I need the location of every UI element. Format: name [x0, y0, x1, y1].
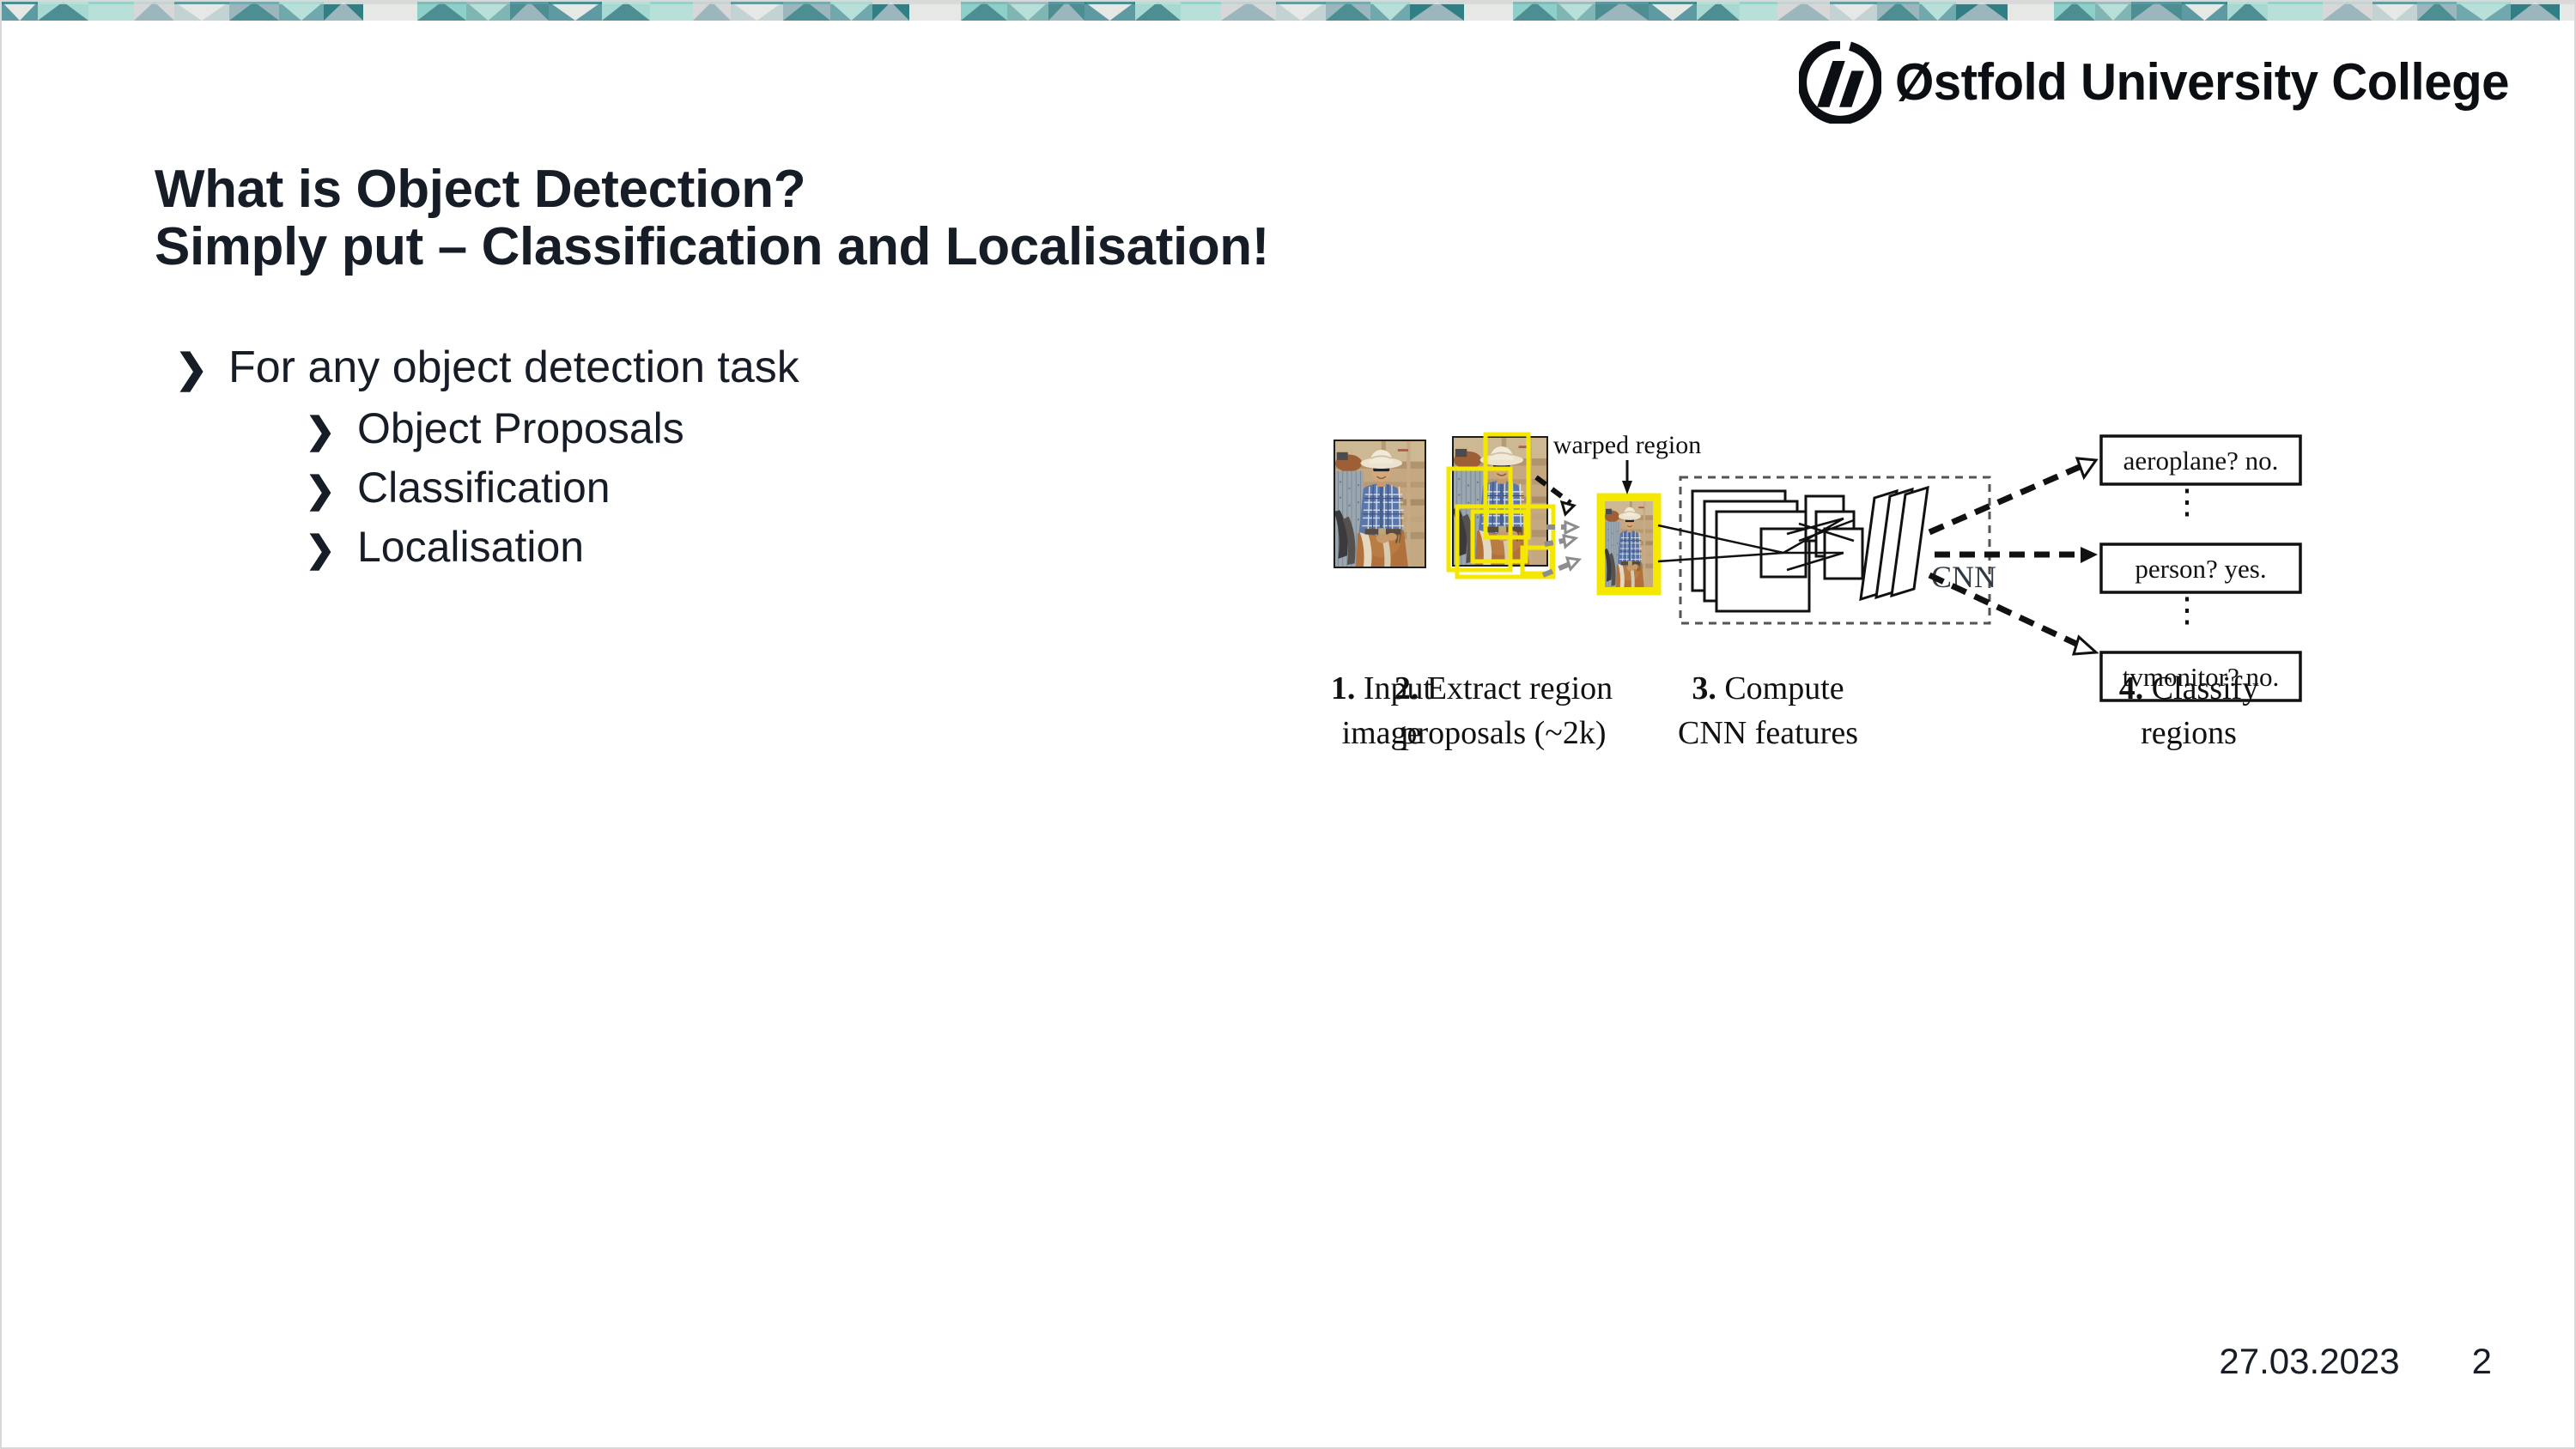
list-item-label: Localisation	[345, 519, 584, 575]
banner-segment	[549, 2, 602, 21]
slide-footer: 27.03.2023 2	[2219, 1341, 2492, 1382]
banner-segment	[1740, 2, 1777, 21]
classification-arrows	[1929, 458, 2098, 654]
panel-warped-region	[1600, 496, 1658, 592]
banner-segment	[88, 2, 134, 21]
r-cnn-pipeline-figure: warped region	[1328, 424, 2445, 776]
banner-segment	[510, 2, 549, 21]
warped-region-label: warped region	[1553, 431, 1701, 459]
banner-segment	[2227, 2, 2268, 21]
classification-result-label: person? yes.	[2135, 554, 2266, 584]
banner-segment	[1595, 2, 1649, 21]
banner-segment	[2372, 2, 2417, 21]
title-line-1: What is Object Detection?	[155, 161, 1269, 219]
banner-segment	[1513, 2, 1557, 21]
panel-classify-regions: aeroplane? no.person? yes.tvmonitor? no.…	[2101, 436, 2300, 700]
list-item: ❯ Object Proposals	[295, 401, 799, 457]
classification-result-box: aeroplane? no.	[2101, 436, 2300, 484]
banner-segment	[1410, 2, 1464, 21]
banner-segment	[2417, 2, 2457, 21]
figure-caption-line: regions	[2141, 715, 2237, 751]
banner-segment	[2457, 2, 2511, 21]
banner-segment	[134, 2, 174, 21]
banner-segment	[1276, 2, 1326, 21]
chevron-bullet-icon: ❯	[295, 528, 345, 570]
banner-segment	[2182, 2, 2227, 21]
banner-segment	[1464, 2, 1513, 21]
oufc-ring-logo-icon	[1799, 41, 1881, 124]
r-cnn-diagram-svg: warped region	[1328, 424, 2445, 776]
banner-segment	[731, 2, 783, 21]
banner-segment	[1084, 2, 1135, 21]
figure-caption-line: CNN features	[1678, 715, 1858, 751]
university-name: Østfold University College	[1895, 57, 2509, 108]
banner-segment	[602, 2, 650, 21]
banner-segment	[2054, 2, 2095, 21]
banner-segment	[1956, 2, 2008, 21]
list-item: ❯ For any object detection task	[165, 342, 799, 394]
panel-input-image	[1334, 440, 1426, 568]
banner-segment	[909, 2, 961, 21]
panel-cnn-features: CNN	[1658, 477, 1996, 623]
chevron-bullet-icon: ❯	[295, 469, 345, 511]
banner-segment	[1326, 2, 1370, 21]
banner-segment	[324, 2, 363, 21]
list-item: ❯ Classification	[295, 460, 799, 516]
figure-caption-line: 3. Compute	[1692, 670, 1844, 706]
banner-segment	[417, 2, 466, 21]
list-item-label: Classification	[345, 460, 611, 516]
banner-segment	[1221, 2, 1276, 21]
banner-segment	[363, 2, 417, 21]
figure-caption-line: 4. Classify	[2119, 670, 2259, 706]
bullet-list: ❯ For any object detection task ❯ Object…	[165, 342, 799, 579]
slide: Østfold University College What is Objec…	[0, 0, 2576, 1449]
banner-segment	[1557, 2, 1595, 21]
banner-segment	[2323, 2, 2372, 21]
banner-segment	[1877, 2, 1919, 21]
banner-segment	[2, 2, 38, 21]
chevron-bullet-icon: ❯	[295, 409, 345, 452]
title-line-2: Simply put – Classification and Localisa…	[155, 219, 1269, 276]
vertical-ellipsis-icon: ⋮	[2170, 482, 2204, 521]
chevron-bullet-icon: ❯	[165, 345, 218, 391]
banner-segment	[1919, 2, 1956, 21]
banner-segment	[1007, 2, 1048, 21]
banner-segment	[961, 2, 1007, 21]
banner-segment	[783, 2, 830, 21]
list-item-label: Object Proposals	[345, 401, 684, 457]
vertical-ellipsis-icon: ⋮	[2170, 591, 2204, 629]
banner-segment	[38, 2, 88, 21]
banner-segment	[2008, 2, 2054, 21]
banner-segment	[830, 2, 872, 21]
classification-result-label: aeroplane? no.	[2123, 446, 2279, 476]
panel-region-proposals	[1449, 434, 1553, 577]
decorative-banner	[2, 2, 2576, 21]
banner-segment	[2268, 2, 2323, 21]
banner-segment	[1135, 2, 1181, 21]
banner-segment	[466, 2, 510, 21]
banner-segment	[1370, 2, 1410, 21]
banner-segment	[2511, 2, 2560, 21]
banner-segment	[1777, 2, 1830, 21]
banner-segment	[279, 2, 324, 21]
figure-caption-line: proposals (~2k)	[1400, 715, 1606, 751]
list-item: ❯ Localisation	[295, 519, 799, 575]
list-item-label: For any object detection task	[218, 342, 799, 394]
page-title: What is Object Detection? Simply put – C…	[155, 161, 1269, 276]
banner-segment	[693, 2, 731, 21]
classification-result-box: person? yes.	[2101, 544, 2300, 592]
banner-segment	[1048, 2, 1084, 21]
banner-segment	[1181, 2, 1221, 21]
banner-segment	[1830, 2, 1877, 21]
footer-date: 27.03.2023	[2219, 1341, 2399, 1382]
banner-segment	[2560, 2, 2576, 21]
banner-segment	[1649, 2, 1697, 21]
banner-segment	[650, 2, 693, 21]
banner-segment	[229, 2, 279, 21]
banner-segment	[174, 2, 229, 21]
banner-segment	[2131, 2, 2182, 21]
footer-slide-number: 2	[2472, 1341, 2492, 1382]
banner-segment	[2095, 2, 2131, 21]
banner-segment	[872, 2, 909, 21]
banner-segment	[1697, 2, 1740, 21]
figure-caption-line: 2. Extract region	[1394, 670, 1613, 706]
university-logo: Østfold University College	[1799, 41, 2528, 124]
